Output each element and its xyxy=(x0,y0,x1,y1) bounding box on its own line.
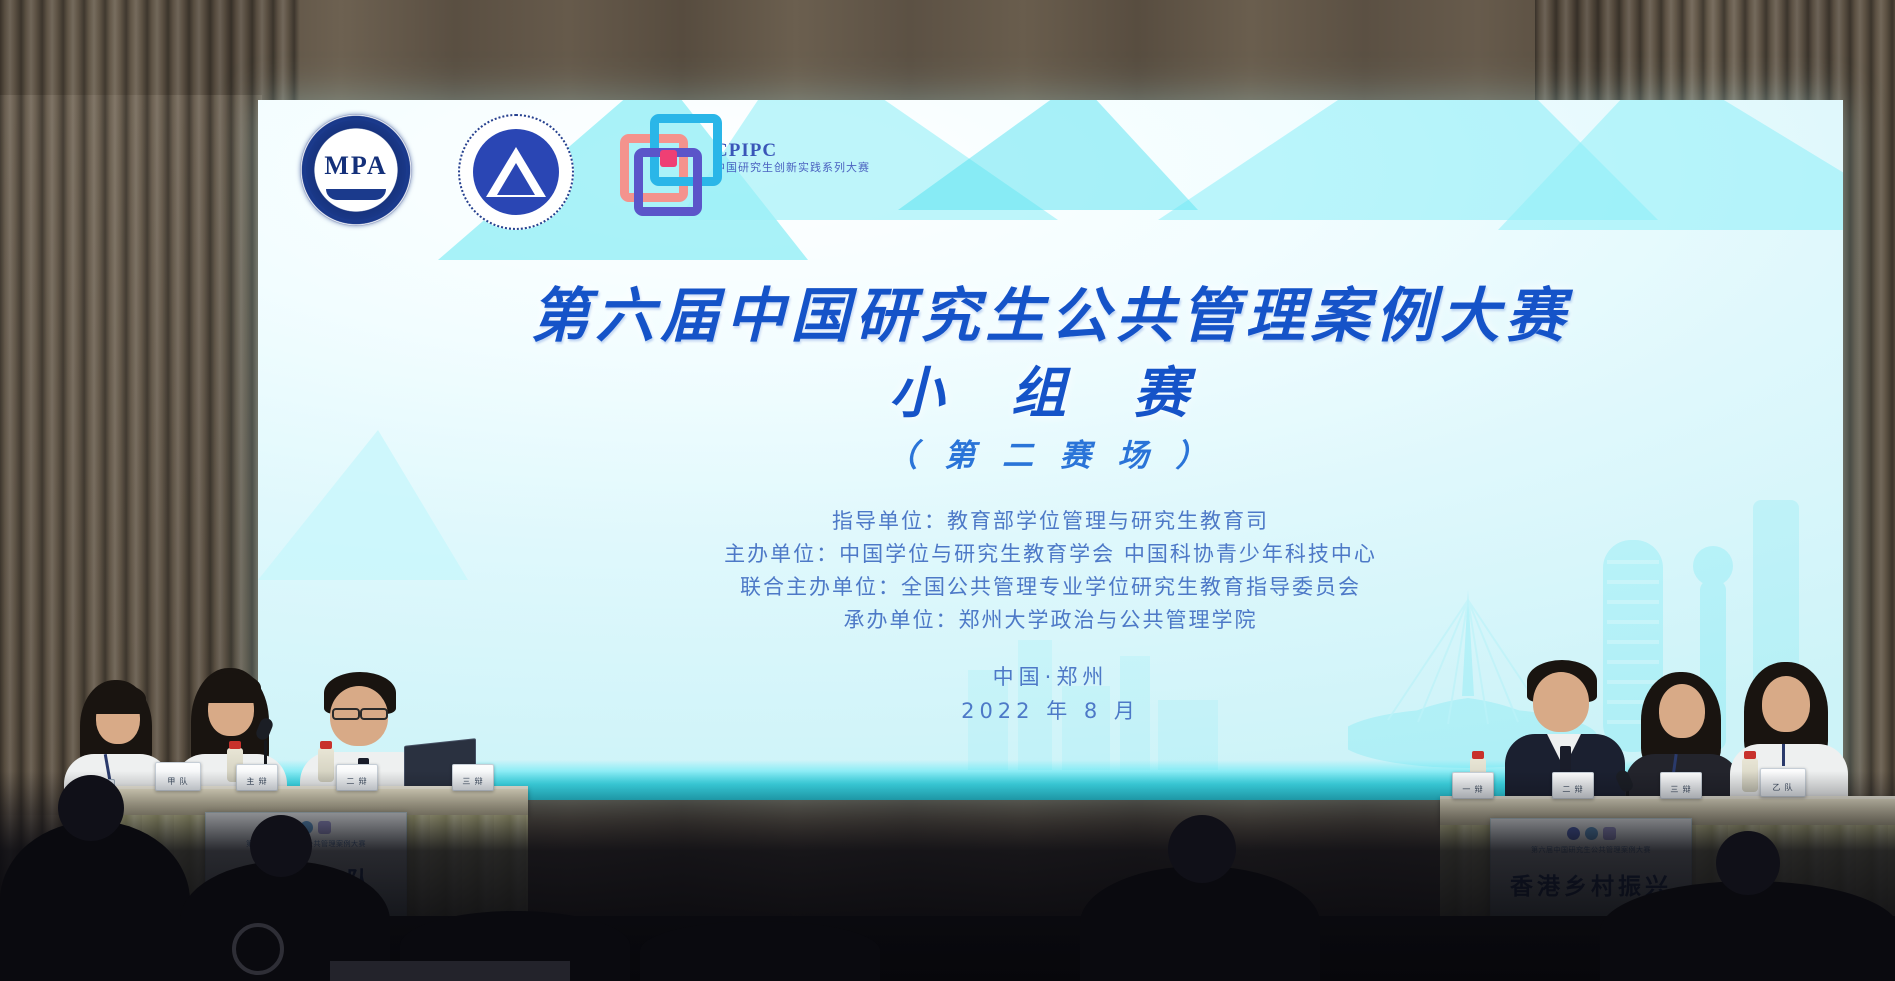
camera-lens-icon xyxy=(232,923,284,975)
cpipc-logo: CPIPC 中国研究生创新实践系列大赛 xyxy=(620,114,870,200)
audience-silhouette-1 xyxy=(0,821,190,981)
equipment-bar xyxy=(330,961,570,981)
cpa-logo-disc xyxy=(473,129,559,215)
lanyard xyxy=(1782,744,1785,766)
mpa-logo: MPA xyxy=(300,114,412,226)
head xyxy=(1659,684,1705,738)
audience-silhouette-4 xyxy=(640,921,880,981)
bottle-cap xyxy=(1472,751,1484,759)
glasses-icon-2 xyxy=(360,708,388,720)
mpa-logo-label: MPA xyxy=(324,151,387,181)
decor-shard-3 xyxy=(898,100,1198,210)
hair-front xyxy=(201,673,261,703)
bottle-cap xyxy=(320,741,332,749)
screen-subtitle: 小 组 赛 xyxy=(258,348,1843,428)
conference-room-scene: MPA CPIPC 中国研究生创新实践系列大赛 xyxy=(0,0,1895,981)
screen-credits-block: 指导单位：教育部学位管理与研究生教育司 主办单位：中国学位与研究生教育学会 中国… xyxy=(258,505,1843,637)
cpa-logo-triangle-icon xyxy=(486,147,546,197)
audience-head-2 xyxy=(250,815,312,877)
screen-logo-row: MPA CPIPC 中国研究生创新实践系列大赛 xyxy=(300,114,870,230)
credit-line-organizer: 承办单位：郑州大学政治与公共管理学院 xyxy=(258,604,1843,637)
audience-silhouette-5 xyxy=(1080,866,1320,981)
hair-front xyxy=(90,684,146,714)
glasses-icon xyxy=(332,708,360,720)
decor-shard-5 xyxy=(1498,100,1843,230)
credit-line-guidance: 指导单位：教育部学位管理与研究生教育司 xyxy=(258,505,1843,538)
credit-line-host: 主办单位：中国学位与研究生教育学会 中国科协青少年科技中心 xyxy=(258,538,1843,571)
credit-line-cohost: 联合主办单位：全国公共管理专业学位研究生教育指导委员会 xyxy=(258,571,1843,604)
audience-silhouette-6 xyxy=(1600,881,1895,981)
bottle-cap xyxy=(1744,751,1756,759)
audience-head-1 xyxy=(58,775,124,841)
foreground-audience xyxy=(0,771,1895,981)
head xyxy=(1533,672,1589,732)
head xyxy=(1762,676,1810,732)
cpipc-logo-text: CPIPC 中国研究生创新实践系列大赛 xyxy=(714,114,870,174)
cpa-logo xyxy=(458,114,574,230)
bottle-cap xyxy=(229,741,241,749)
cpipc-dot xyxy=(660,150,677,167)
audience-head-5 xyxy=(1168,815,1236,883)
cpipc-logo-label: CPIPC xyxy=(714,140,870,162)
cpipc-logo-sublabel: 中国研究生创新实践系列大赛 xyxy=(714,162,870,175)
audience-head-6 xyxy=(1716,831,1780,895)
screen-main-title: 第六届中国研究生公共管理案例大赛 xyxy=(258,268,1843,353)
mpa-logo-book-icon xyxy=(326,189,386,200)
cpipc-logo-mark xyxy=(620,114,706,200)
mic-head xyxy=(254,716,274,741)
screen-venue-label: （ 第 二 赛 场 ） xyxy=(258,430,1843,475)
